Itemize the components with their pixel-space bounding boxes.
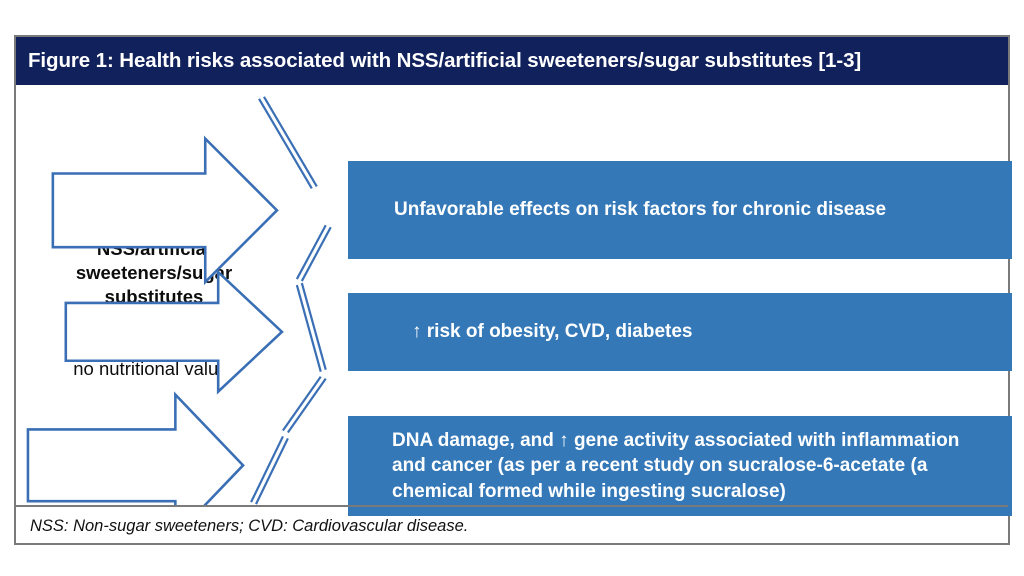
outcome-bar-2: ↑ risk of obesity, CVD, diabetes bbox=[348, 293, 1012, 371]
outcome-bar-1-label: Unfavorable effects on risk factors for … bbox=[394, 197, 886, 222]
source-heading-line-2: sweeteners/sugar bbox=[46, 261, 262, 285]
outcome-bar-3-label: DNA damage, and ↑ gene activity associat… bbox=[392, 428, 992, 504]
outcome-bar-1: Unfavorable effects on risk factors for … bbox=[348, 161, 1012, 259]
source-note-line-3: no nutritional value) bbox=[46, 357, 262, 381]
diagram-body: NSS/artificial sweeteners/sugar substitu… bbox=[16, 85, 1008, 505]
outcome-bar-3-line-1: DNA damage, and ↑ gene activity associat… bbox=[392, 428, 992, 453]
source-heading-line-3: substitutes bbox=[46, 285, 262, 309]
outcome-bar-1-line-1: Unfavorable effects on risk factors for … bbox=[394, 197, 886, 222]
footnote-text: NSS: Non-sugar sweeteners; CVD: Cardiova… bbox=[30, 517, 468, 536]
outcome-bar-2-label: ↑ risk of obesity, CVD, diabetes bbox=[412, 319, 693, 344]
figure-title-bar: Figure 1: Health risks associated with N… bbox=[16, 37, 1008, 85]
figure-frame: Figure 1: Health risks associated with N… bbox=[14, 35, 1010, 545]
page-title: Figure 1: Health risks associated with N… bbox=[28, 49, 861, 73]
source-heading-line-1: NSS/artificial bbox=[46, 237, 262, 261]
right-arrow-icon bbox=[28, 395, 243, 505]
outcome-bar-3: DNA damage, and ↑ gene activity associat… bbox=[348, 416, 1012, 516]
outcome-bar-3-line-3: chemical formed while ingesting sucralos… bbox=[392, 479, 992, 504]
source-label: NSS/artificial sweeteners/sugar substitu… bbox=[46, 237, 262, 381]
source-heading: NSS/artificial sweeteners/sugar substitu… bbox=[46, 237, 262, 309]
outcome-bar-2-line-1: ↑ risk of obesity, CVD, diabetes bbox=[412, 319, 693, 344]
source-note-line-2: dietary factors; have bbox=[46, 333, 262, 357]
source-note-line-1: (Not essentially bbox=[46, 309, 262, 333]
outcome-bar-3-line-2: and cancer (as per a recent study on suc… bbox=[392, 453, 992, 478]
source-note: (Not essentially dietary factors; have n… bbox=[46, 309, 262, 381]
curly-brace-icon bbox=[251, 97, 331, 504]
footnote-divider bbox=[16, 505, 1008, 507]
